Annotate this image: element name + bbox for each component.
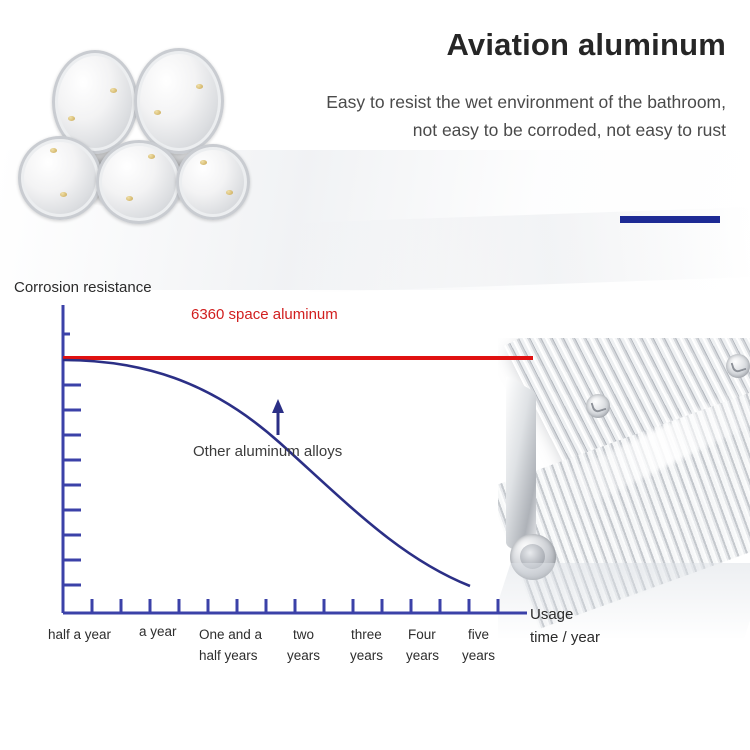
x-tick-label-3b: years (287, 648, 320, 663)
product-infographic-page: Aviation aluminum Easy to resist the wet… (0, 0, 750, 750)
x-axis-title-line1: Usage (530, 606, 573, 623)
x-tick-label-6b: years (462, 648, 495, 663)
x-axis-title-line2: time / year (530, 629, 600, 646)
x-axis-ticks (92, 599, 498, 613)
aluminum-barrels-image (8, 40, 278, 255)
x-tick-label-6a: five (468, 627, 489, 642)
blue-series-label: Other aluminum alloys (193, 443, 342, 460)
accent-divider-bar (620, 216, 720, 223)
x-tick-label-5a: Four (408, 627, 436, 642)
series-other-aluminum-alloys (63, 360, 470, 586)
corrosion-resistance-chart: Corrosion resistance (0, 268, 640, 678)
blue-series-annotation (272, 399, 284, 435)
y-axis-ticks (63, 334, 81, 585)
red-series-label: 6360 space aluminum (191, 306, 338, 323)
x-tick-label-5b: years (406, 648, 439, 663)
x-tick-label-0: half a year (48, 627, 112, 642)
x-tick-label-2a: One and a (199, 627, 263, 642)
x-tick-label-2b: half years (199, 648, 258, 663)
y-axis-title: Corrosion resistance (14, 279, 152, 296)
x-tick-label-4b: years (350, 648, 383, 663)
page-description: Easy to resist the wet environment of th… (301, 88, 726, 145)
page-title: Aviation aluminum (306, 28, 726, 62)
x-tick-label-4a: three (351, 627, 382, 642)
x-tick-label-3a: two (293, 627, 314, 642)
x-tick-label-1: a year (139, 624, 177, 639)
